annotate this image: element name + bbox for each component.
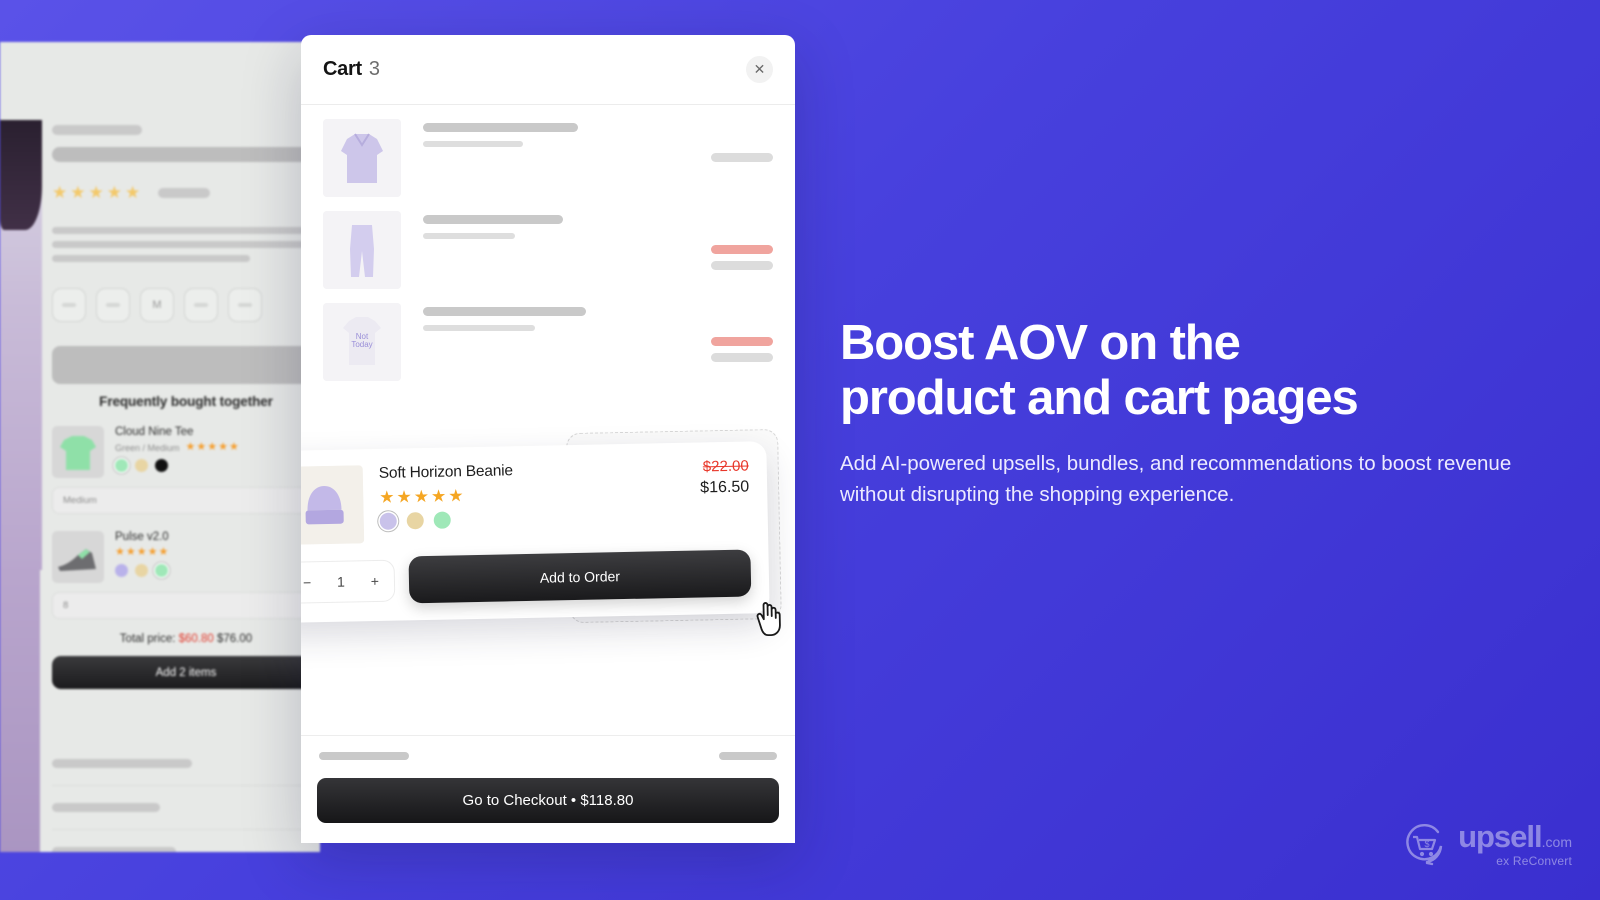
fbt-total-compare: $76.00 [217,633,252,645]
upsell-logo: $ upsell .com ex ReConvert [1401,821,1572,868]
swatch-green[interactable] [115,459,128,472]
offer-compare-price: $22.00 [700,458,749,476]
offer-product-image [301,465,364,545]
skeleton-sale-price [711,337,773,346]
cart-header: Cart 3 ✕ [301,35,795,105]
swatch-black[interactable] [155,459,168,472]
upsell-offer-card-wrapper: Soft Horizon Beanie ★★★★★ $22.00 $16.50 [301,441,785,623]
fbt-item: Pulse v2.0 ★★★★★ [52,531,320,583]
frequently-bought-together: Frequently bought together Cloud Nine Te… [52,394,320,689]
cart-item-price [711,211,773,289]
cart-title: Cart [323,58,362,81]
fbt-item-swatches[interactable] [115,459,320,472]
fbt-size-select-2[interactable]: 8 ▾ [52,592,320,619]
store-product-page: ★★★★★ M Frequently bought together Cloud… [0,42,320,852]
offer-swatches[interactable] [380,510,514,530]
headline-line-2: product and cart pages [840,371,1530,426]
skeleton-sale-price [711,245,773,254]
cart-footer: Go to Checkout • $118.80 [301,735,795,843]
skeleton-item-variant [423,325,535,331]
subcopy: Add AI-powered upsells, bundles, and rec… [840,448,1530,510]
cart-line-item [301,197,795,289]
skeleton-compare-price [711,261,773,270]
skeleton-subtotal-value [719,752,777,760]
skeleton-breadcrumb [52,125,142,135]
skeleton-desc-3 [52,255,250,262]
skeleton-review-count [158,188,210,198]
swatch-lavender[interactable] [115,564,128,577]
quantity-decrease-button[interactable]: − [303,574,312,590]
skeleton-item-variant [423,233,515,239]
skeleton-product-title [52,147,320,162]
product-hero-image [0,120,42,570]
size-chip[interactable] [228,288,262,322]
logo-tagline: ex ReConvert [1458,854,1572,868]
cart-item-price [711,303,773,381]
fbt-title: Frequently bought together [52,394,320,409]
logo-tld: .com [1542,834,1572,850]
fbt-item-variant: Green / Medium [115,443,180,453]
cart-item-text [423,303,689,381]
upsell-offer-card: Soft Horizon Beanie ★★★★★ $22.00 $16.50 [301,441,770,623]
fbt-total-label: Total price: [120,633,176,645]
fbt-item: Cloud Nine Tee Green / Medium ★★★★★ [52,426,320,478]
fbt-item-stars: ★★★★★ [186,442,239,453]
cart-items-list: NotToday Soft Horizon Beanie [301,105,795,775]
cart-drawer: Cart 3 ✕ [301,35,795,843]
size-chip[interactable] [96,288,130,322]
size-chip[interactable] [52,288,86,322]
accordion-section [52,742,320,852]
swatch-tan[interactable] [135,564,148,577]
swatch-tan[interactable] [135,459,148,472]
accordion-row[interactable] [52,786,320,830]
skeleton-add-to-cart[interactable] [52,346,320,384]
cart-line-item: NotToday [301,289,795,381]
cart-item-text [423,119,689,197]
product-details-column: ★★★★★ M [52,42,320,384]
fbt-add-button[interactable]: Add 2 items [52,656,320,689]
fbt-size-value: 8 [63,600,68,611]
fbt-size-value: Medium [63,495,97,506]
swatch-tan[interactable] [407,512,424,529]
cart-item-text [423,211,689,289]
hand-pointer-icon [749,597,786,638]
cart-item-price [711,119,773,197]
cart-item-thumbnail-sweatpants [323,211,401,289]
add-to-order-button[interactable]: Add to Order [408,549,751,603]
skeleton-desc-2 [52,241,320,248]
cart-subtotal-skeleton [317,752,779,760]
headline: Boost AOV on the product and cart pages [840,316,1530,426]
quantity-value: 1 [337,573,345,589]
close-icon[interactable]: ✕ [746,56,773,83]
product-hero-image-secondary [0,562,40,852]
quantity-increase-button[interactable]: + [371,572,380,588]
offer-product-name: Soft Horizon Beanie [379,462,513,483]
swatch-lavender[interactable] [380,513,397,530]
skeleton-item-variant [423,141,523,147]
offer-price: $16.50 [700,479,749,498]
svg-text:$: $ [1425,839,1430,849]
skeleton-compare-price [711,353,773,362]
offer-prices: $22.00 $16.50 [700,458,750,537]
fbt-item-stars: ★★★★★ [115,547,168,558]
size-chip[interactable] [184,288,218,322]
accordion-row[interactable] [52,742,320,786]
cart-item-thumbnail-hoodie [323,119,401,197]
offer-rating-stars: ★★★★★ [379,486,513,506]
svg-text:Today: Today [351,340,372,349]
skeleton-item-title [423,215,563,224]
shopping-cart-dollar-icon: $ [1401,822,1447,868]
fbt-size-select-1[interactable]: Medium ▾ [52,487,320,514]
skeleton-price [711,153,773,162]
skeleton-item-title [423,123,578,132]
fbt-total-sale: $60.80 [179,633,214,645]
skeleton-subtotal-label [319,752,409,760]
quantity-stepper[interactable]: − 1 + [301,559,395,603]
skeleton-desc-1 [52,227,320,234]
skeleton-item-title [423,307,586,316]
product-rating-stars: ★★★★★ [52,184,140,201]
fbt-item-thumbnail [52,531,104,583]
go-to-checkout-button[interactable]: Go to Checkout • $118.80 [317,778,779,823]
accordion-row[interactable] [52,830,320,852]
logo-name: upsell [1458,821,1542,852]
cart-line-item [301,105,795,197]
cart-item-thumbnail-tee: NotToday [323,303,401,381]
size-chip-group[interactable]: M [52,288,320,322]
swatch-green[interactable] [434,511,451,528]
fbt-item-name: Cloud Nine Tee [115,426,320,438]
headline-line-1: Boost AOV on the [840,316,1530,371]
fbt-item-swatches[interactable] [115,564,320,577]
fbt-item-name: Pulse v2.0 [115,531,320,543]
fbt-item-thumbnail [52,426,104,478]
cart-item-count: 3 [369,58,380,81]
marketing-copy: Boost AOV on the product and cart pages … [840,316,1530,510]
size-chip-m[interactable]: M [140,288,174,322]
fbt-total: Total price: $60.80 $76.00 [52,633,320,645]
swatch-green[interactable] [155,564,168,577]
